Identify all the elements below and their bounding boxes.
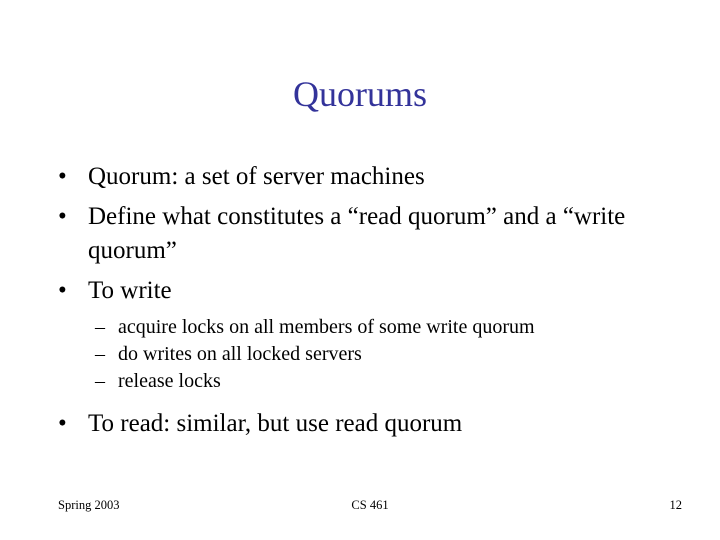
bullet-text: Quorum: a set of server machines [88,160,675,194]
slide-body: • Quorum: a set of server machines • Def… [50,160,675,447]
bullet-item: • Define what constitutes a “read quorum… [50,200,675,268]
bullet-text: To read: similar, but use read quorum [88,407,675,441]
dash-marker-icon: – [95,314,105,341]
dash-marker-icon: – [95,368,105,395]
dash-marker-icon: – [95,341,105,368]
sub-bullet-list: – acquire locks on all members of some w… [50,314,675,395]
bullet-marker-icon: • [58,160,67,194]
bullet-text: To write [88,274,675,308]
bullet-marker-icon: • [58,200,67,234]
bullet-marker-icon: • [58,407,67,441]
bullet-text: Define what constitutes a “read quorum” … [88,200,675,268]
footer-page-number: 12 [670,495,683,515]
slide-footer: Spring 2003 CS 461 12 [58,495,682,515]
sub-bullet-text: do writes on all locked servers [118,341,675,368]
bullet-item: • To write [50,274,675,308]
page-title: Quorums [0,72,720,116]
sub-bullet-item: – do writes on all locked servers [50,341,675,368]
sub-bullet-item: – acquire locks on all members of some w… [50,314,675,341]
sub-bullet-text: acquire locks on all members of some wri… [118,314,675,341]
footer-course: CS 461 [58,495,682,515]
sub-bullet-text: release locks [118,368,675,395]
slide: Quorums • Quorum: a set of server machin… [0,0,720,540]
sub-bullet-item: – release locks [50,368,675,395]
bullet-item: • To read: similar, but use read quorum [50,407,675,441]
bullet-item: • Quorum: a set of server machines [50,160,675,194]
bullet-marker-icon: • [58,274,67,308]
